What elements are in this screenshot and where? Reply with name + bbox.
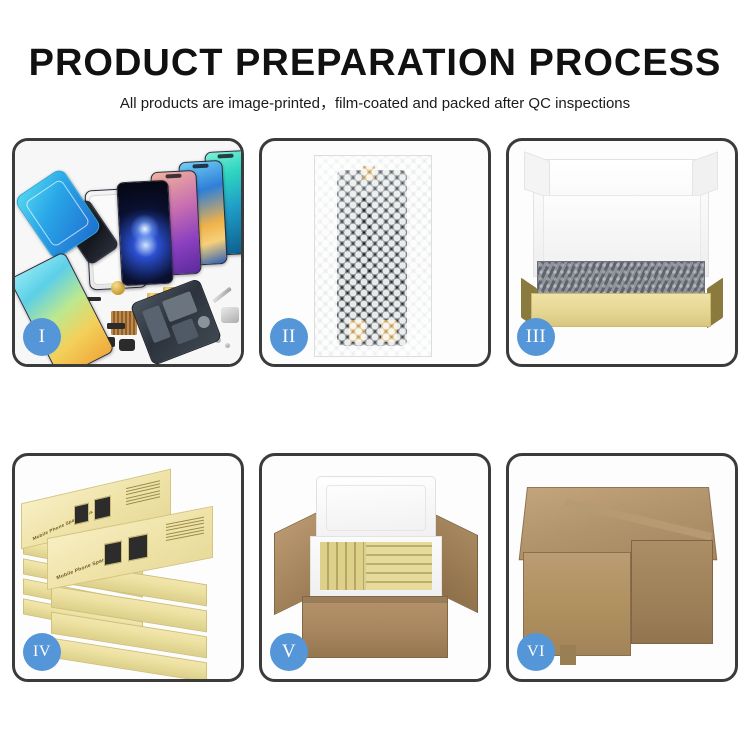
panel-step-4[interactable]: Mobile Phone Spare Parts Mobile Phone Sp…: [12, 453, 244, 682]
bubble-wrap-bag: [314, 155, 432, 357]
yellow-boxes-inside: [320, 542, 432, 590]
screw-part: [225, 343, 230, 348]
tool-part: [221, 307, 239, 323]
panel-6-stage: VI: [509, 456, 735, 679]
speaker-box-part: [119, 339, 135, 351]
panel-4-stage: Mobile Phone Spare Parts Mobile Phone Sp…: [15, 456, 241, 679]
module-block: [171, 318, 199, 345]
carton-right-face: [631, 540, 713, 644]
step-badge-5: V: [270, 633, 308, 671]
step-badge-4: IV: [23, 633, 61, 671]
bubble-padding-layer: [537, 261, 705, 295]
mainboard-block: [162, 291, 198, 322]
boxes-vertical-group: [320, 542, 364, 590]
styrofoam-lid: [316, 476, 436, 540]
panel-step-2[interactable]: II: [259, 138, 491, 367]
panel-step-3[interactable]: III: [506, 138, 738, 367]
bubble-texture-overlay: [315, 156, 431, 356]
box-front-yellow: [531, 293, 711, 327]
boxes-horizontal-group: [366, 542, 432, 590]
step-badge-1: I: [23, 318, 61, 356]
carton-tape-patch: [560, 645, 576, 665]
box-spec-lines: [166, 517, 204, 544]
box-window-thumbnail: [74, 503, 89, 525]
panel-1-stage: I: [15, 141, 241, 364]
panel-5-stage: V: [262, 456, 488, 679]
box-window-thumbnail: [94, 496, 111, 521]
process-step-grid: I II: [12, 138, 738, 683]
page-subtitle: All products are image-printed，film-coat…: [0, 82, 750, 111]
phone-screen-dark-blue: [116, 180, 173, 287]
box-spec-lines: [126, 480, 160, 507]
panel-step-6[interactable]: VI: [506, 453, 738, 682]
carton-body: [302, 596, 448, 658]
step-badge-3: III: [517, 318, 555, 356]
panel-3-stage: III: [509, 141, 735, 364]
box-window-thumbnail: [128, 534, 148, 562]
carton-seam: [564, 499, 712, 541]
step-badge-6: VI: [517, 633, 555, 671]
camera-ring-icon: [196, 314, 212, 330]
product-preparation-infographic: PRODUCT PREPARATION PROCESS All products…: [0, 0, 750, 750]
step-badge-2: II: [270, 318, 308, 356]
antenna-part: [107, 323, 125, 329]
panel-step-5[interactable]: V: [259, 453, 491, 682]
notch-icon: [165, 174, 181, 178]
page-title: PRODUCT PREPARATION PROCESS: [0, 0, 750, 82]
panel-2-stage: II: [262, 141, 488, 364]
box-window-thumbnail: [104, 541, 122, 566]
foam-sheet: [543, 195, 701, 265]
header: PRODUCT PREPARATION PROCESS All products…: [0, 0, 750, 111]
notch-icon: [192, 164, 208, 168]
notch-icon: [217, 154, 233, 158]
panel-step-1[interactable]: I: [12, 138, 244, 367]
